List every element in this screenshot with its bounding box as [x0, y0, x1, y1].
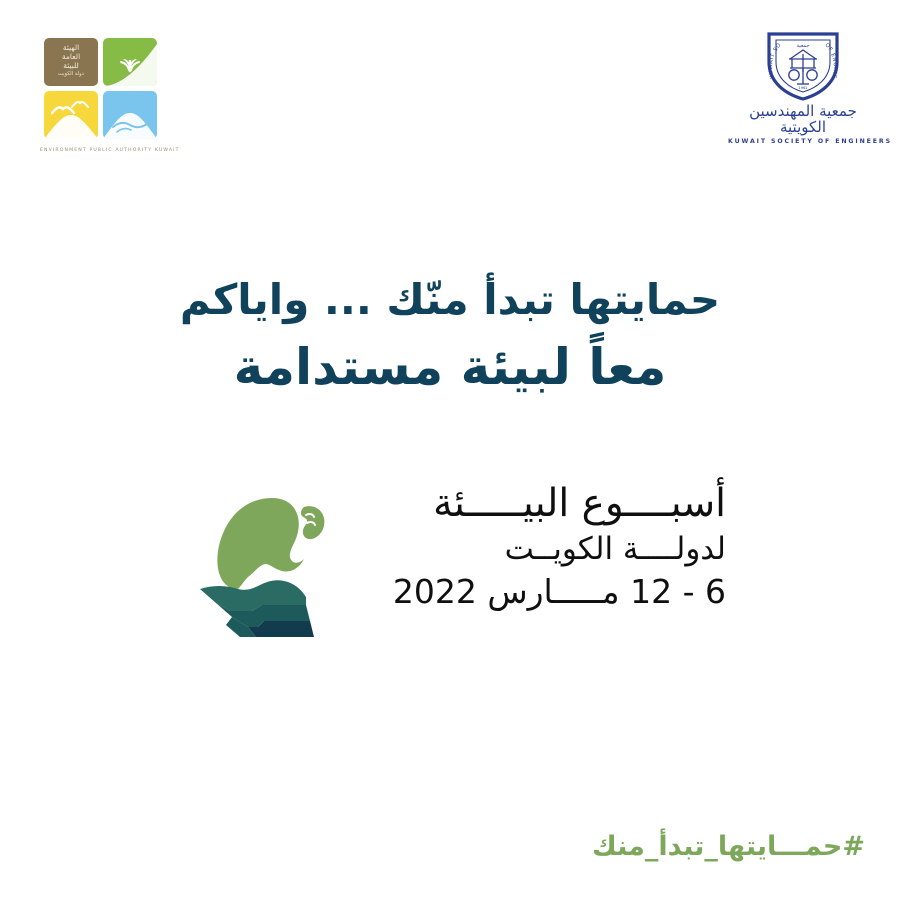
- epa-arabic-line-3: للبيئة: [47, 61, 95, 70]
- epa-tile-brown-arabic: الهيئة العامة للبيئة دولة الكويت: [44, 38, 98, 86]
- svg-text:جمعية: جمعية: [796, 43, 809, 49]
- kse-shield-crest-icon: جمعية 1962 KUWAIT SOCIETY OF ENGINEERS: [759, 28, 847, 102]
- environment-week-mark-icon: [186, 485, 346, 637]
- epa-logo-tiles: الهيئة العامة للبيئة دولة الكويت: [44, 38, 159, 142]
- kse-logo: جمعية 1962 KUWAIT SOCIETY OF ENGINEERS ج…: [728, 28, 878, 140]
- epa-arabic-line-2: العامة: [47, 52, 95, 61]
- event-lockup: أسبــــوع البيـــــئة لدولــــة الكويــت…: [186, 480, 726, 645]
- epa-arabic-line-1: الهيئة: [47, 43, 95, 52]
- kse-arabic-wordmark: جمعية المهندسين الكويتية: [728, 103, 878, 135]
- kse-english-wordmark: KUWAIT SOCIETY OF ENGINEERS: [728, 138, 878, 145]
- svg-text:KUWAIT SOCIETY: KUWAIT SOCIETY: [759, 28, 783, 79]
- flying-birds-icon: [44, 91, 98, 139]
- event-title: أسبــــوع البيـــــئة: [354, 480, 726, 528]
- environment-week-poster: الهيئة العامة للبيئة دولة الكويت: [0, 0, 900, 900]
- headline-block: حمايتها تبدأ منّك ... واياكم معاً لبيئة …: [0, 272, 900, 400]
- epa-logo: الهيئة العامة للبيئة دولة الكويت: [40, 38, 170, 160]
- epa-tile-blue-water: [103, 91, 157, 139]
- epa-tile-yellow-birds: [44, 91, 98, 139]
- svg-text:1962: 1962: [798, 86, 807, 90]
- plant-sprout-icon: [103, 38, 157, 86]
- water-wave-icon: [103, 91, 157, 139]
- epa-logo-caption: ENVIRONMENT PUBLIC AUTHORITY KUWAIT: [40, 148, 170, 153]
- event-dates: 6 - 12 مـــــارس 2022: [354, 570, 726, 614]
- headline-line-2: معاً لبيئة مستدامة: [0, 334, 900, 400]
- epa-arabic-subline: دولة الكويت: [47, 70, 95, 78]
- epa-tile-green-plant: [103, 38, 157, 86]
- epa-arabic-wordmark: الهيئة العامة للبيئة دولة الكويت: [47, 43, 95, 78]
- headline-line-1: حمايتها تبدأ منّك ... واياكم: [0, 272, 900, 328]
- event-subtitle: لدولــــة الكويــت: [354, 528, 726, 570]
- campaign-hashtag: #حمـــايتها_تبدأ_منك: [592, 831, 865, 862]
- event-text-block: أسبــــوع البيـــــئة لدولــــة الكويــت…: [354, 480, 726, 614]
